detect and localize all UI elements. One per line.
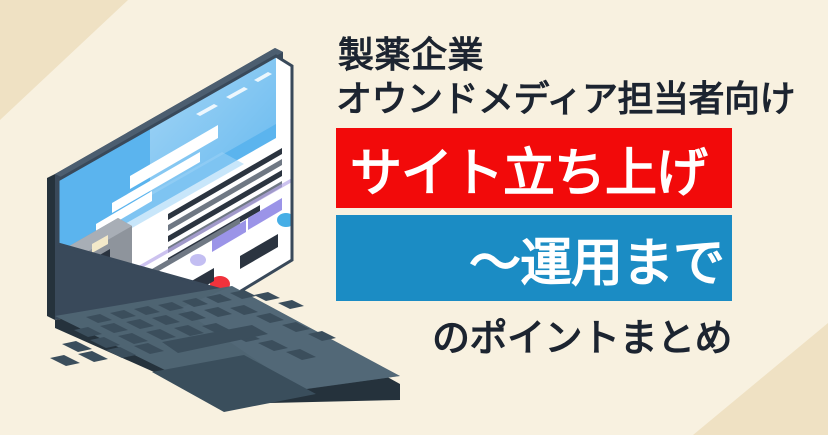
highlight-band-red: サイト立ち上げ (336, 128, 732, 208)
kicker-line-2: オウンドメディア担当者向け (336, 82, 756, 118)
kicker-line-1: 製薬企業 (338, 38, 756, 74)
poster-canvas: 製薬企業 オウンドメディア担当者向け サイト立ち上げ 〜運用まで のポイントまと… (0, 0, 828, 435)
tail-line: のポイントまとめ (432, 307, 756, 362)
headline-copy-block: 製薬企業 オウンドメディア担当者向け サイト立ち上げ 〜運用まで のポイントまと… (336, 38, 756, 362)
screen-dot-lilac (190, 254, 206, 266)
highlight-band-blue: 〜運用まで (336, 215, 732, 301)
laptop-lid-edge (47, 174, 55, 320)
